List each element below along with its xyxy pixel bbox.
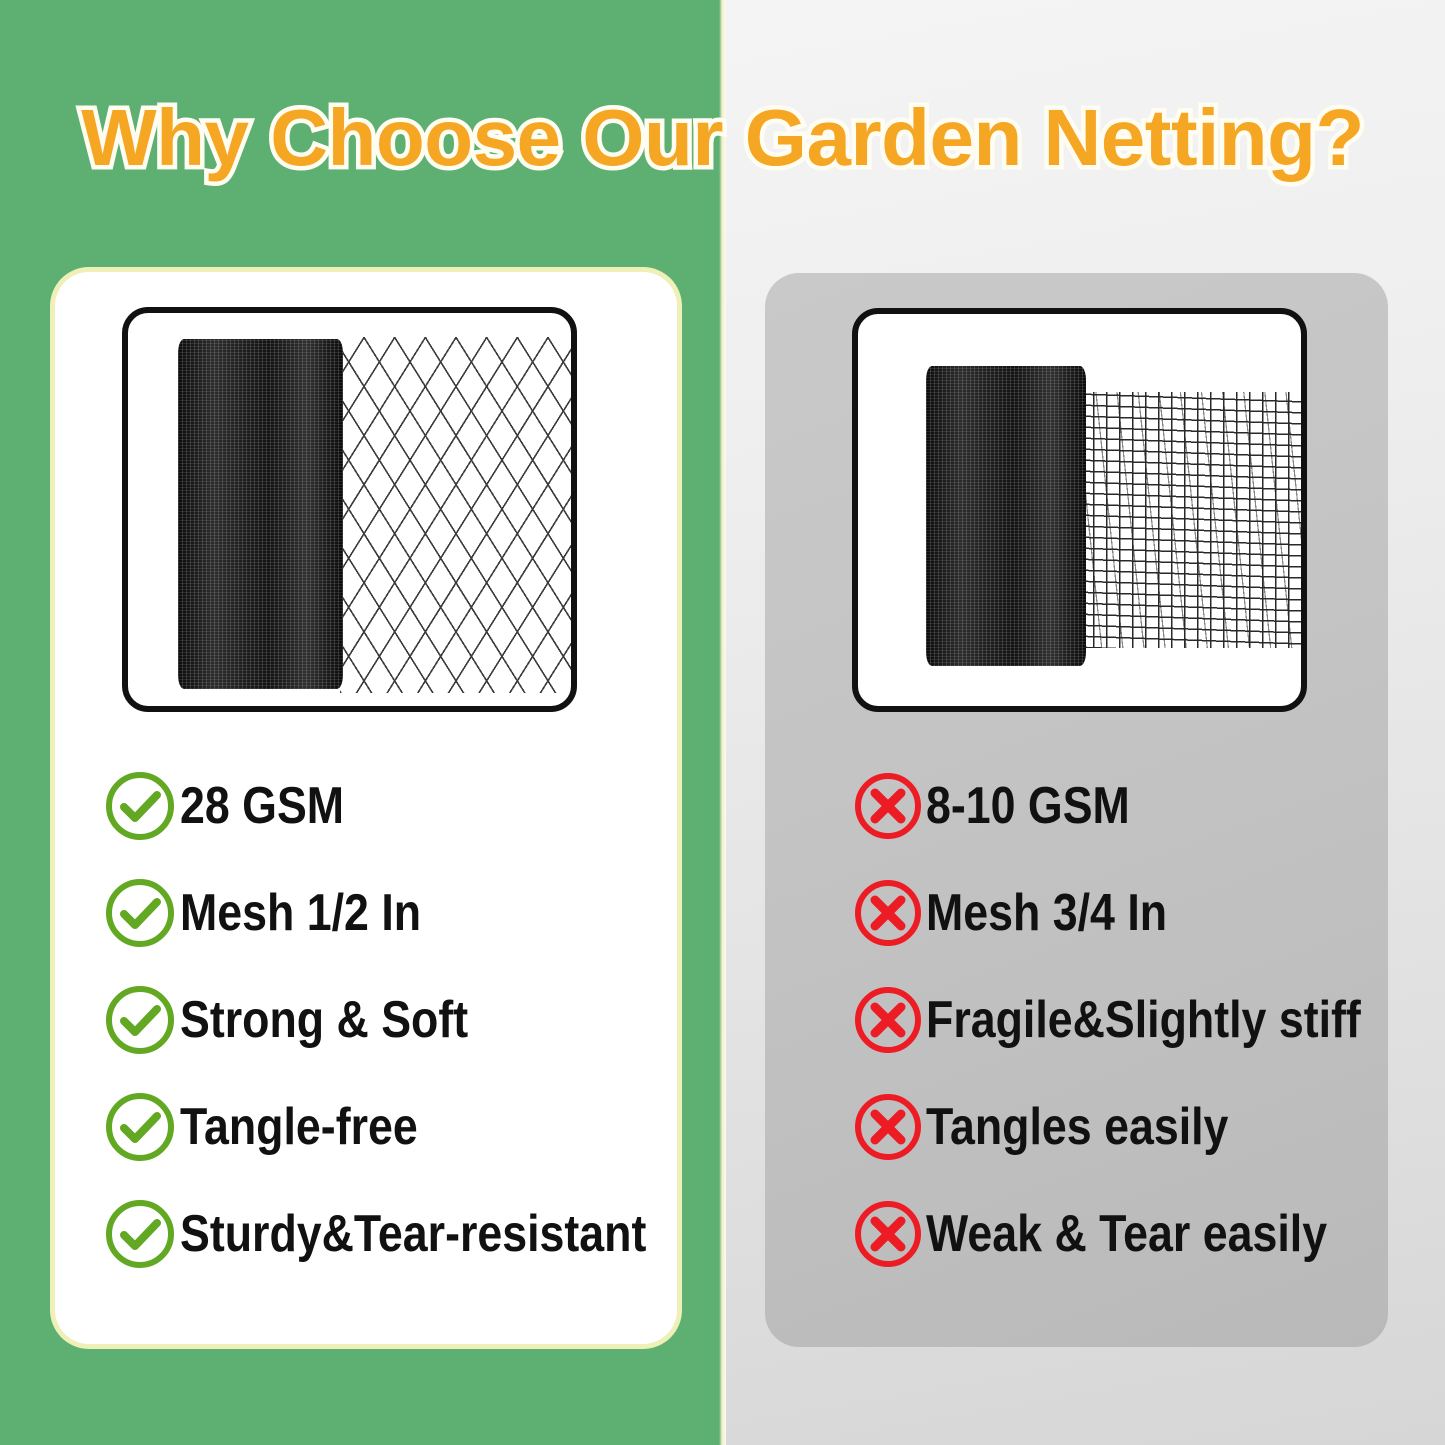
x-circle-icon xyxy=(852,984,924,1056)
feature-label: Mesh 1/2 In xyxy=(180,887,421,939)
diamond-mesh-netting xyxy=(340,337,572,693)
x-circle-icon xyxy=(852,770,924,842)
check-circle-icon xyxy=(104,1091,176,1163)
feature-label: Weak & Tear easily xyxy=(926,1208,1327,1260)
list-item: Fragile&Slightly stiff xyxy=(852,966,1445,1073)
list-item: Strong & Soft xyxy=(104,966,744,1073)
feature-label: Tangle-free xyxy=(180,1101,418,1153)
check-circle-icon xyxy=(104,984,176,1056)
check-circle-icon xyxy=(104,1198,176,1270)
list-item: Tangles easily xyxy=(852,1073,1445,1180)
our-product-photo-frame xyxy=(122,307,577,712)
feature-label: Strong & Soft xyxy=(180,994,468,1046)
list-item: 8-10 GSM xyxy=(852,752,1445,859)
list-item: 28 GSM xyxy=(104,752,744,859)
x-circle-icon xyxy=(852,877,924,949)
competitor-feature-list: 8-10 GSM Mesh 3/4 In Fragile&Slightly st… xyxy=(852,752,1445,1287)
netting-roll xyxy=(926,366,1086,666)
feature-label: Mesh 3/4 In xyxy=(926,887,1167,939)
list-item: Mesh 1/2 In xyxy=(104,859,744,966)
feature-label: 28 GSM xyxy=(180,780,344,832)
netting-roll xyxy=(178,339,343,689)
our-product-feature-list: 28 GSM Mesh 1/2 In Strong & Soft xyxy=(104,752,744,1287)
x-circle-icon xyxy=(852,1198,924,1270)
feature-label: Fragile&Slightly stiff xyxy=(926,994,1361,1046)
our-product-photo xyxy=(128,313,571,706)
x-circle-icon xyxy=(852,1091,924,1163)
infographic-canvas: Why Choose Our Garden Netting? 28 GSM xyxy=(0,0,1445,1445)
list-item: Sturdy&Tear-resistant xyxy=(104,1180,744,1287)
list-item: Weak & Tear easily xyxy=(852,1180,1445,1287)
check-circle-icon xyxy=(104,877,176,949)
list-item: Mesh 3/4 In xyxy=(852,859,1445,966)
page-title: Why Choose Our Garden Netting? xyxy=(0,92,1445,184)
square-mesh-netting xyxy=(1080,392,1302,648)
list-item: Tangle-free xyxy=(104,1073,744,1180)
competitor-product-photo-frame xyxy=(852,308,1307,712)
check-circle-icon xyxy=(104,770,176,842)
feature-label: Sturdy&Tear-resistant xyxy=(180,1208,646,1260)
competitor-product-photo xyxy=(858,314,1301,706)
feature-label: 8-10 GSM xyxy=(926,780,1130,832)
feature-label: Tangles easily xyxy=(926,1101,1228,1153)
